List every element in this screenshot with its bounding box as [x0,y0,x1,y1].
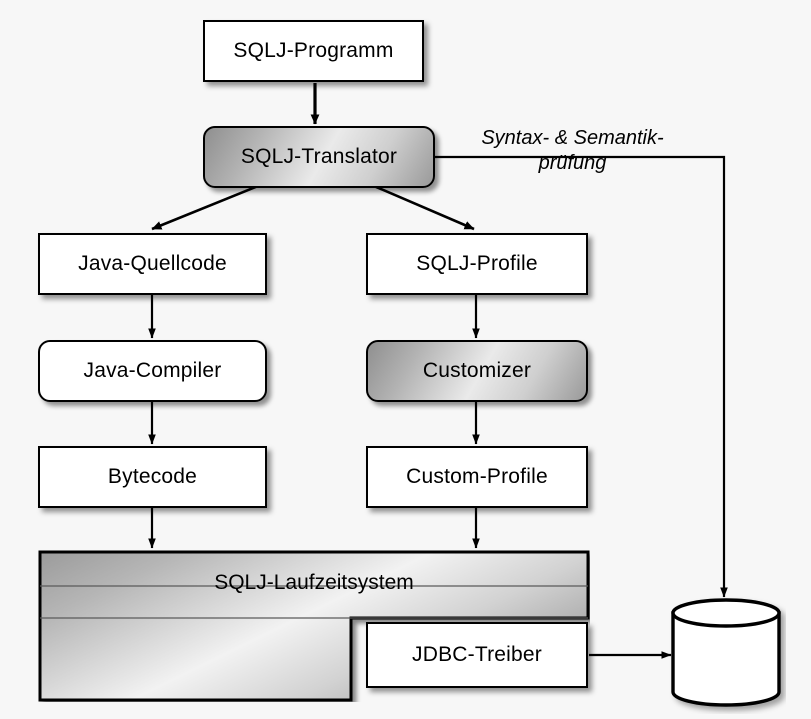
edge-translator-to-quellcode [152,186,258,229]
node-label: Java-Quellcode [78,252,227,276]
node-label: JDBC-Treiber [412,643,542,667]
node-customizer[interactable]: Customizer [366,340,588,402]
node-label: SQLJ-Translator [241,145,397,169]
node-java-quellcode[interactable]: Java-Quellcode [38,233,267,295]
node-database[interactable] [666,596,786,714]
node-label: Customizer [423,359,531,383]
database-top [673,600,779,626]
node-label: SQLJ-Profile [416,252,537,276]
edge-label-syntax-semantik-pruefung: Syntax- & Semantik- prüfung [455,126,690,176]
node-java-compiler[interactable]: Java-Compiler [38,340,267,402]
node-custom-profile[interactable]: Custom-Profile [366,446,588,508]
node-label: SQLJ-Programm [233,39,393,63]
node-sqlj-translator[interactable]: SQLJ-Translator [203,126,435,188]
node-jdbc-treiber[interactable]: JDBC-Treiber [366,622,588,688]
node-sqlj-profile[interactable]: SQLJ-Profile [366,233,588,295]
edge-translator-to-profile [374,186,474,229]
node-label: Java-Compiler [84,359,222,383]
node-bytecode[interactable]: Bytecode [38,446,267,508]
node-label: Bytecode [108,465,197,489]
node-label: Custom-Profile [406,465,548,489]
node-sqlj-programm[interactable]: SQLJ-Programm [203,20,424,82]
sqlj-architecture-diagram: SQLJ-Programm SQLJ-Translator Syntax- & … [0,0,811,719]
